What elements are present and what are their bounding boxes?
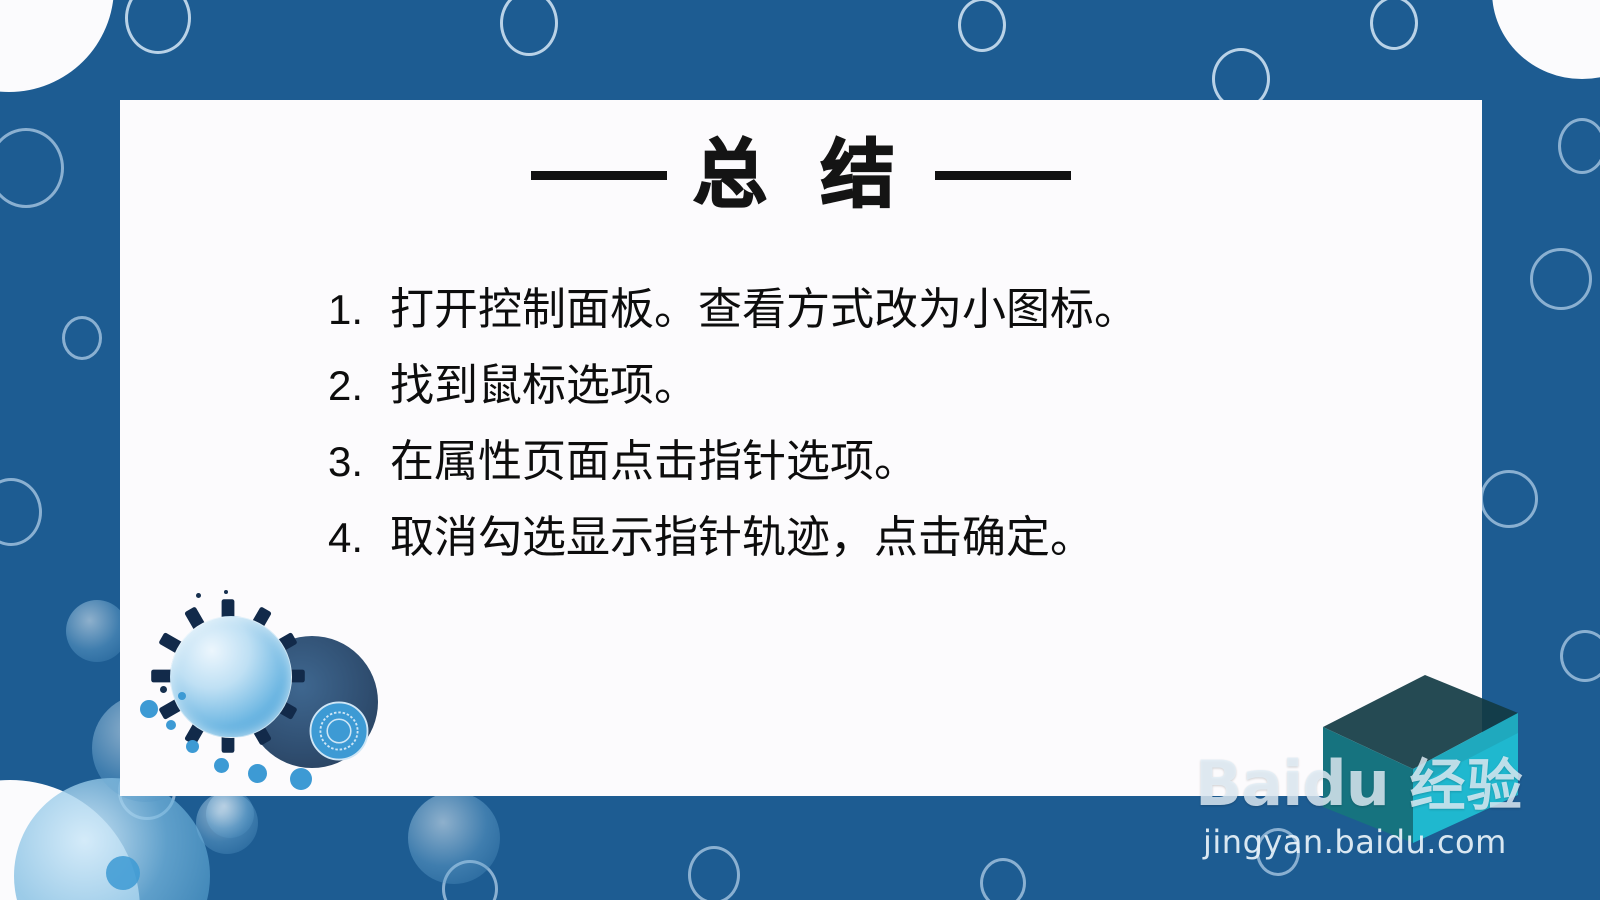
decor-ring [62,316,102,360]
decor-bubble [408,792,500,884]
title-dash-right [935,171,1071,180]
decor-ring [1256,828,1300,876]
content-panel: 总 结 1. 打开控制面板。查看方式改为小图标。 2. 找到鼠标选项。 3. 在… [120,100,1482,796]
decor-ring [1560,630,1600,682]
watermark-url: jingyan.baidu.com [1203,823,1507,861]
decor-speck [224,590,228,594]
page-title: 总 结 [693,138,909,212]
decor-ring [442,860,498,900]
list-item: 2. 找到鼠标选项。 [328,348,1442,424]
title-dash-left [531,171,667,180]
presentation-slide: 总 结 1. 打开控制面板。查看方式改为小图标。 2. 找到鼠标选项。 3. 在… [0,0,1600,900]
list-item-text: 在属性页面点击指针选项。 [390,424,918,500]
gear-icon-small [308,700,370,762]
slide-title-row: 总 结 [120,138,1482,212]
decor-ring [1530,248,1592,310]
decor-ring [958,0,1006,52]
decor-ring [1370,0,1418,50]
list-item: 4. 取消勾选显示指针轨迹，点击确定。 [328,500,1442,576]
summary-step-list: 1. 打开控制面板。查看方式改为小图标。 2. 找到鼠标选项。 3. 在属性页面… [328,272,1442,576]
decor-speck [196,593,201,598]
list-item-text: 取消勾选显示指针轨迹，点击确定。 [390,500,1094,576]
decor-speck [248,764,267,783]
decor-ring [980,858,1026,900]
decor-speck [214,758,229,773]
list-item-text: 打开控制面板。查看方式改为小图标。 [390,272,1138,348]
decor-bubble [206,790,254,838]
decor-ring [1480,470,1538,528]
decor-speck [166,720,176,730]
decor-bubble [196,792,258,854]
list-item: 3. 在属性页面点击指针选项。 [328,424,1442,500]
decor-speck [140,700,158,718]
decor-speck [160,686,167,693]
decor-ring [0,478,42,546]
list-item-number: 2. [328,348,380,424]
decor-ring [688,846,740,900]
list-item-number: 4. [328,500,380,576]
corner-accent-top-right [1492,0,1600,79]
decor-ring [125,0,191,54]
list-item-number: 1. [328,272,380,348]
list-item: 1. 打开控制面板。查看方式改为小图标。 [328,272,1442,348]
decor-ring [500,0,558,56]
decor-speck [290,768,312,790]
decor-speck [178,692,186,700]
list-item-number: 3. [328,424,380,500]
gear-sphere-overlay [170,616,292,738]
decor-ring [1558,118,1600,174]
gear-decoration [140,588,400,788]
corner-accent-bottom-left [0,780,140,900]
decor-ring [0,128,64,208]
decor-speck [186,740,199,753]
decor-bubble [66,600,128,662]
corner-accent-top-left [0,0,114,92]
list-item-text: 找到鼠标选项。 [390,348,698,424]
